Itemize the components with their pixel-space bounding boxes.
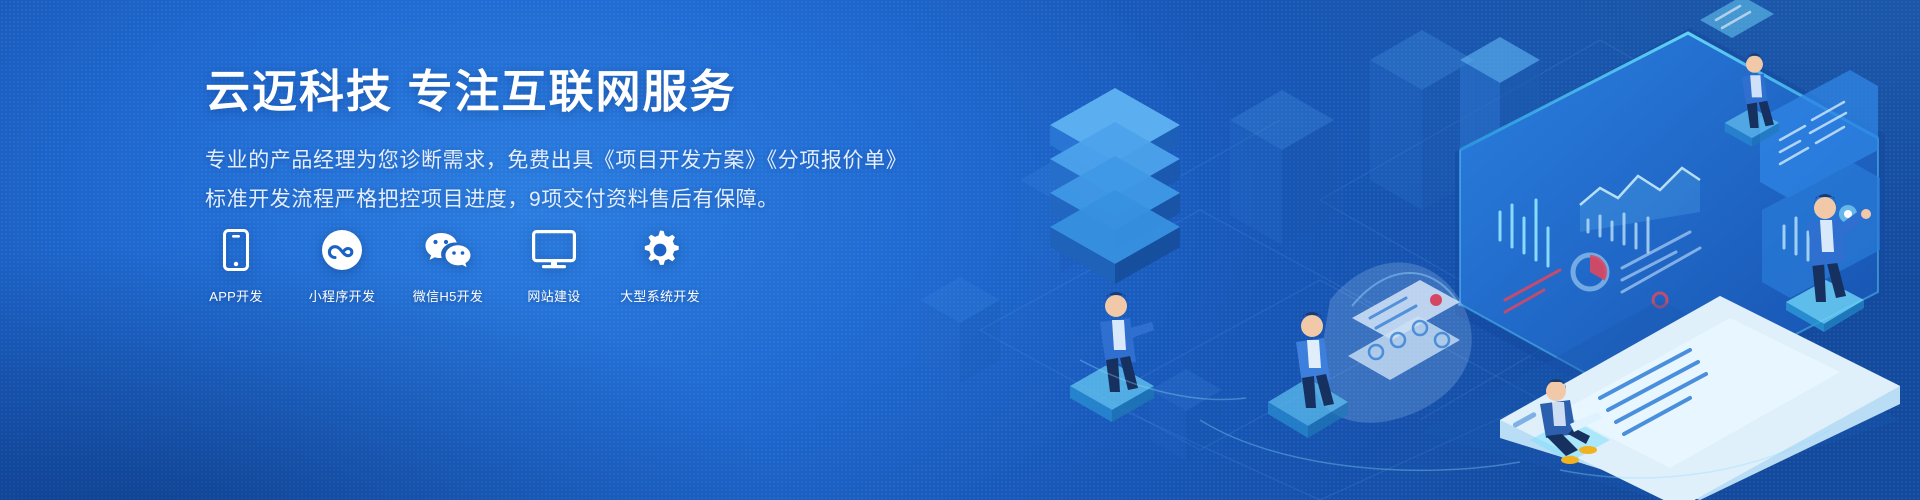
hero-banner: 云迈科技 专注互联网服务 专业的产品经理为您诊断需求，免费出具《项目开发方案》《… xyxy=(0,0,1920,500)
service-label-website: 网站建设 xyxy=(527,286,580,305)
illustration xyxy=(900,0,1920,500)
mini-program-icon xyxy=(321,228,363,272)
service-item-wechat[interactable]: 微信H5开发 xyxy=(417,228,479,305)
service-item-app[interactable]: APP开发 xyxy=(205,228,267,305)
service-label-system: 大型系统开发 xyxy=(620,286,700,305)
banner-title: 云迈科技 专注互联网服务 xyxy=(205,66,907,118)
gear-icon xyxy=(639,228,681,272)
service-item-system[interactable]: 大型系统开发 xyxy=(629,228,691,305)
service-label-app: APP开发 xyxy=(209,286,263,305)
banner-copy: 云迈科技 专注互联网服务 专业的产品经理为您诊断需求，免费出具《项目开发方案》《… xyxy=(205,66,907,219)
service-list: APP开发 小程序开发 微信 xyxy=(205,228,691,305)
service-label-wechat: 微信H5开发 xyxy=(413,286,483,305)
mobile-phone-icon xyxy=(223,228,249,272)
banner-subtitle: 专业的产品经理为您诊断需求，免费出具《项目开发方案》《分项报价单》 标准开发流程… xyxy=(205,142,907,220)
subtitle-line-1: 专业的产品经理为您诊断需求，免费出具《项目开发方案》《分项报价单》 xyxy=(205,142,907,181)
monitor-icon xyxy=(532,228,576,272)
service-item-miniprogram[interactable]: 小程序开发 xyxy=(311,228,373,305)
subtitle-line-2: 标准开发流程严格把控项目进度，9项交付资料售后有保障。 xyxy=(205,181,907,220)
service-item-website[interactable]: 网站建设 xyxy=(523,228,585,305)
wechat-icon xyxy=(424,228,472,272)
service-label-miniprogram: 小程序开发 xyxy=(309,286,376,305)
